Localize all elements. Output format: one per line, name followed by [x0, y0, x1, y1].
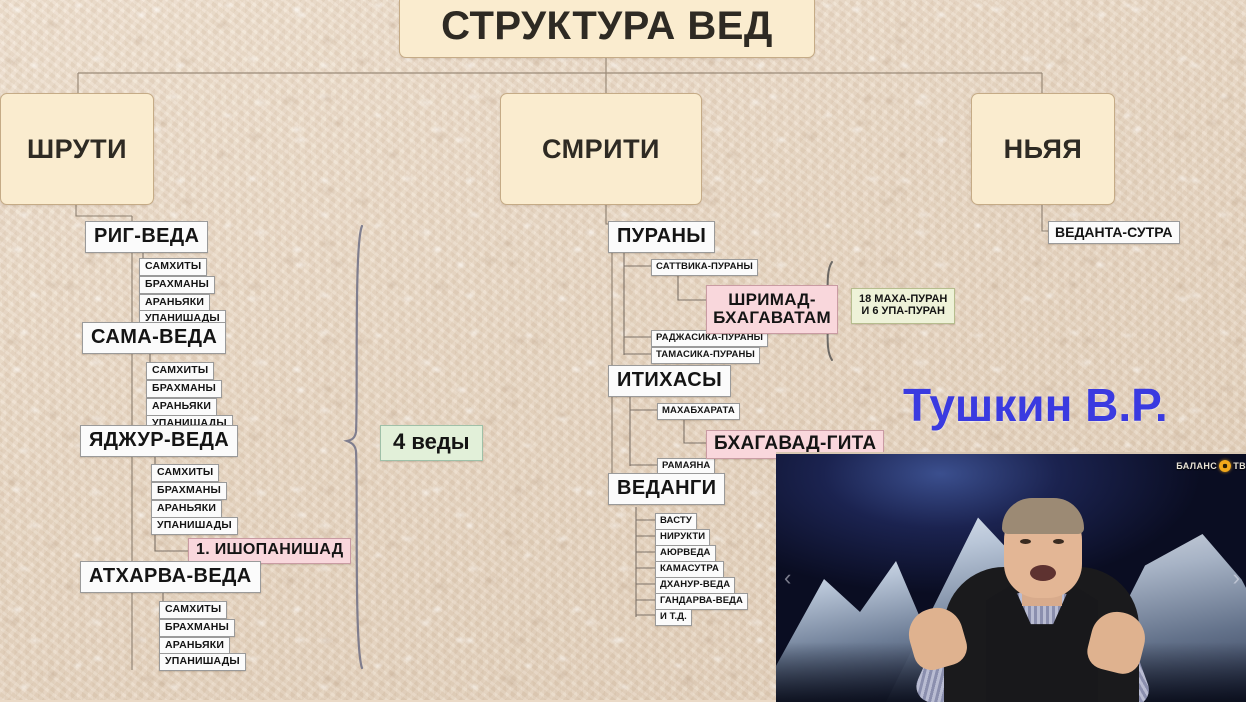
- next-arrow-icon[interactable]: ›: [1233, 567, 1240, 589]
- node-samhity-4[interactable]: САМХИТЫ: [159, 601, 227, 619]
- watermark-text-left: БАЛАНС: [1176, 461, 1217, 471]
- node-gandarva-veda[interactable]: ГАНДАРВА-ВЕДА: [655, 593, 748, 610]
- label-4-vedas: 4 веды: [380, 425, 483, 461]
- node-shrimad-bhagavatam[interactable]: ШРИМАД- БХАГАВАТАМ: [706, 285, 838, 334]
- node-vedanta-sutra[interactable]: ВЕДАНТА-СУТРА: [1048, 221, 1180, 244]
- node-mahabharata[interactable]: МАХАБХАРАТА: [657, 403, 740, 420]
- mouth: [1030, 565, 1056, 581]
- video-overlay[interactable]: ‹ › БАЛАНС ТВ: [776, 452, 1246, 702]
- node-purany[interactable]: ПУРАНЫ: [608, 221, 715, 253]
- node-nyaya[interactable]: НЬЯЯ: [971, 93, 1115, 205]
- node-itd[interactable]: И Т.Д.: [655, 609, 692, 626]
- eye-right: [1053, 539, 1064, 544]
- speaker-figure: [926, 467, 1156, 702]
- node-samhity-2[interactable]: САМХИТЫ: [146, 362, 214, 380]
- node-aranyaki-4[interactable]: АРАНЬЯКИ: [159, 637, 230, 655]
- node-samhity-1[interactable]: САМХИТЫ: [139, 258, 207, 276]
- node-sattvika-purany[interactable]: САТТВИКА-ПУРАНЫ: [651, 259, 758, 276]
- shrimad-line-1: ШРИМАД-: [713, 291, 831, 309]
- node-dhanur-veda[interactable]: ДХАНУР-ВЕДА: [655, 577, 735, 594]
- node-vedangi[interactable]: ВЕДАНГИ: [608, 473, 725, 505]
- node-tamasika-purany[interactable]: ТАМАСИКА-ПУРАНЫ: [651, 347, 760, 364]
- node-rig-veda[interactable]: РИГ-ВЕДА: [85, 221, 208, 253]
- node-yajur-veda[interactable]: ЯДЖУР-ВЕДА: [80, 425, 238, 457]
- node-shruti[interactable]: ШРУТИ: [0, 93, 154, 205]
- node-smriti[interactable]: СМРИТИ: [500, 93, 702, 205]
- node-vastu[interactable]: ВАСТУ: [655, 513, 697, 530]
- hair: [1002, 498, 1084, 534]
- node-sama-veda[interactable]: САМА-ВЕДА: [82, 322, 226, 354]
- node-kamasutra[interactable]: КАМАСУТРА: [655, 561, 724, 578]
- node-samhity-3[interactable]: САМХИТЫ: [151, 464, 219, 482]
- sun-icon: [1219, 460, 1231, 472]
- node-aranyaki-1[interactable]: АРАНЬЯКИ: [139, 294, 210, 312]
- node-aranyaki-2[interactable]: АРАНЬЯКИ: [146, 398, 217, 416]
- node-brahmany-4[interactable]: БРАХМАНЫ: [159, 619, 235, 637]
- label-purana-count: 18 МАХА-ПУРАН И 6 УПА-ПУРАН: [851, 288, 955, 324]
- node-brahmany-3[interactable]: БРАХМАНЫ: [151, 482, 227, 500]
- node-upanishady-4[interactable]: УПАНИШАДЫ: [159, 653, 246, 671]
- prev-arrow-icon[interactable]: ‹: [784, 567, 791, 589]
- shrimad-line-2: БХАГАВАТАМ: [713, 309, 831, 327]
- node-upanishady-3[interactable]: УПАНИШАДЫ: [151, 517, 238, 535]
- node-ayurveda[interactable]: АЮРВЕДА: [655, 545, 716, 562]
- node-atharva-veda[interactable]: АТХАРВА-ВЕДА: [80, 561, 261, 593]
- purana-count-line-1: 18 МАХА-ПУРАН: [859, 294, 947, 306]
- watermark-text-right: ТВ: [1233, 461, 1246, 471]
- channel-watermark: БАЛАНС ТВ: [1176, 460, 1246, 472]
- node-brahmany-2[interactable]: БРАХМАНЫ: [146, 380, 222, 398]
- node-brahmany-1[interactable]: БРАХМАНЫ: [139, 276, 215, 294]
- page-title: СТРУКТУРА ВЕД: [399, 0, 815, 58]
- node-itihasy[interactable]: ИТИХАСЫ: [608, 365, 731, 397]
- purana-count-line-2: И 6 УПА-ПУРАН: [859, 306, 947, 318]
- node-nirukti[interactable]: НИРУКТИ: [655, 529, 710, 546]
- eye-left: [1020, 539, 1031, 544]
- node-aranyaki-3[interactable]: АРАНЬЯКИ: [151, 500, 222, 518]
- presenter-name: Тушкин В.Р.: [903, 378, 1168, 432]
